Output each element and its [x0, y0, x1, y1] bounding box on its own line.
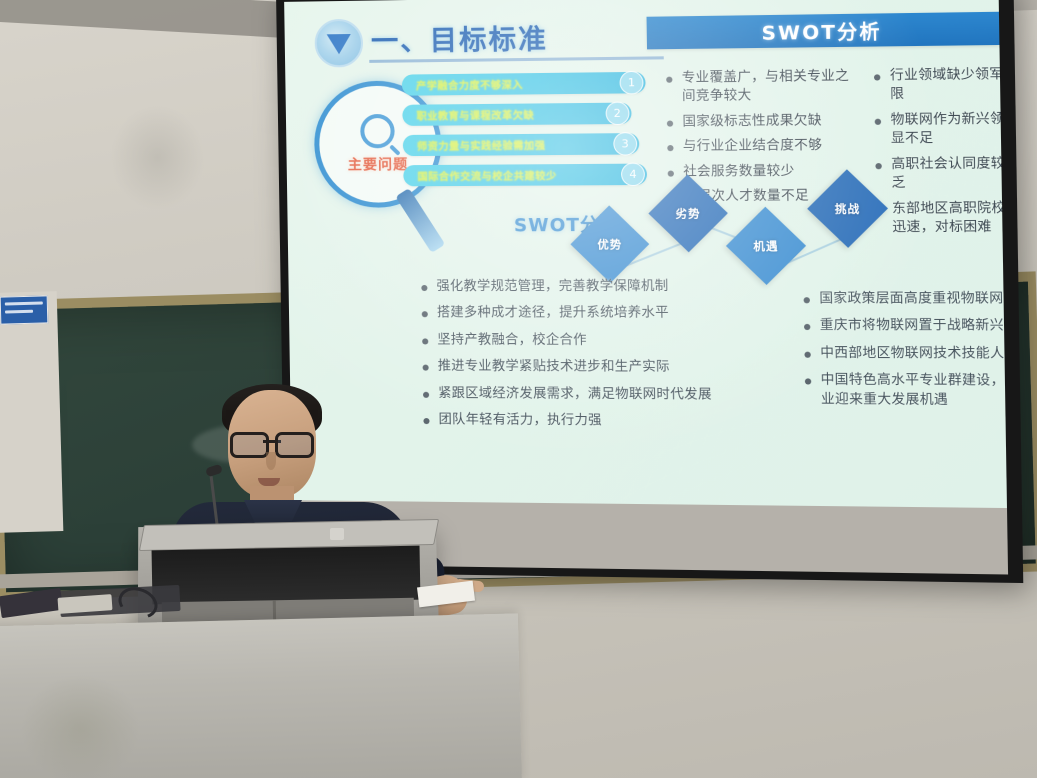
bottom-right-bullet-column: 国家政策层面高度重视物联网发展 重庆市将物联网置于战略新兴产业前列 中西部地区物… [801, 290, 1008, 420]
diamond-label: 劣势 [675, 205, 700, 221]
magnifier-label: 主要问题 [348, 154, 409, 175]
list-item: 重庆市将物联网置于战略新兴产业前列 [802, 317, 1008, 337]
issue-bar-text: 职业教育与课程改革欠缺 [402, 106, 605, 123]
wall-panel [0, 291, 63, 533]
presenter-nose [266, 452, 276, 470]
issue-bar-list: 产学融合力度不够深入 1 职业教育与课程改革欠缺 2 师资力量与实践经验需加强 … [402, 72, 647, 196]
lecture-room-photo: 一、目标标准 SWOT分析 主要问题 产学融合力度不够深入 [0, 0, 1037, 778]
diamond-strengths: 优势 [570, 205, 649, 283]
list-item: 中西部地区物联网技术技能人才缺口巨大 [802, 344, 1008, 364]
swot-banner: SWOT分析 [647, 12, 1000, 50]
list-item: 与行业企业结合度不够 [665, 137, 860, 157]
list-item: 紧跟区域经济发展需求，满足物联网时代发展 [421, 385, 751, 405]
list-item: 搭建多种成才途径，提升系统培养水平 [420, 305, 750, 324]
magnifier-handle [395, 188, 445, 253]
slide-title: 一、目标标准 [371, 17, 548, 59]
issue-bar-number: 1 [619, 71, 643, 95]
list-item: 物联网作为新兴领域，社会认知仍显不足 [872, 109, 1008, 149]
list-item: 国家政策层面高度重视物联网发展 [801, 290, 1008, 309]
diamond-challenges: 挑战 [807, 169, 888, 248]
magnifier-icon [360, 114, 395, 148]
issue-bar: 职业教育与课程改革欠缺 2 [402, 103, 631, 126]
diamond-weaknesses: 劣势 [648, 174, 727, 252]
list-item: 团队年轻有活力，执行力强 [421, 411, 751, 432]
diamond-label: 机遇 [753, 238, 778, 254]
swot-diamond-group: 优势 劣势 机遇 挑战 [581, 176, 1008, 280]
diamond-label: 优势 [597, 236, 622, 252]
diamond-opportunities: 机遇 [726, 207, 806, 285]
bottom-left-bullet-column: 强化教学规范管理，完善教学保障机制 搭建多种成才途径，提升系统培养水平 坚持产教… [419, 278, 751, 441]
issue-bar-number: 2 [605, 102, 629, 126]
list-item: 中国特色高水平专业群建设，物联网应用技术专业迎来重大发展机遇 [803, 372, 1008, 412]
list-item: 推进专业教学紧贴技术进步和生产实际 [420, 358, 750, 378]
list-item: 国家级标志性成果欠缺 [665, 112, 860, 133]
list-item: 坚持产教融合，校企合作 [420, 331, 750, 351]
issue-bar: 产学融合力度不够深入 1 [402, 72, 646, 96]
blue-wall-sign [0, 295, 48, 324]
podium-open-compartment [152, 546, 421, 605]
list-item: 强化教学规范管理，完善教学保障机制 [419, 278, 749, 297]
institution-emblem-logo [314, 19, 363, 68]
issue-bar-text: 产学融合力度不够深入 [402, 75, 620, 93]
eyeglasses-icon [230, 432, 314, 452]
list-item: 行业领域缺少领军企业，影响力受限 [872, 64, 1008, 105]
podium-latch [330, 528, 344, 540]
issue-bar: 师资力量与实践经验需加强 3 [403, 133, 639, 156]
list-item: 专业覆盖广，与相关专业之间竞争较大 [664, 67, 860, 107]
foreground-desk [0, 613, 522, 778]
desk-stain [19, 673, 142, 778]
issue-bar-number: 3 [613, 132, 637, 156]
slide-header: 一、目标标准 SWOT分析 [284, 10, 999, 70]
issue-bar-text: 师资力量与实践经验需加强 [403, 136, 614, 153]
wall-stain [110, 105, 205, 210]
diamond-label: 挑战 [835, 200, 861, 217]
swot-banner-label: SWOT分析 [761, 16, 881, 45]
